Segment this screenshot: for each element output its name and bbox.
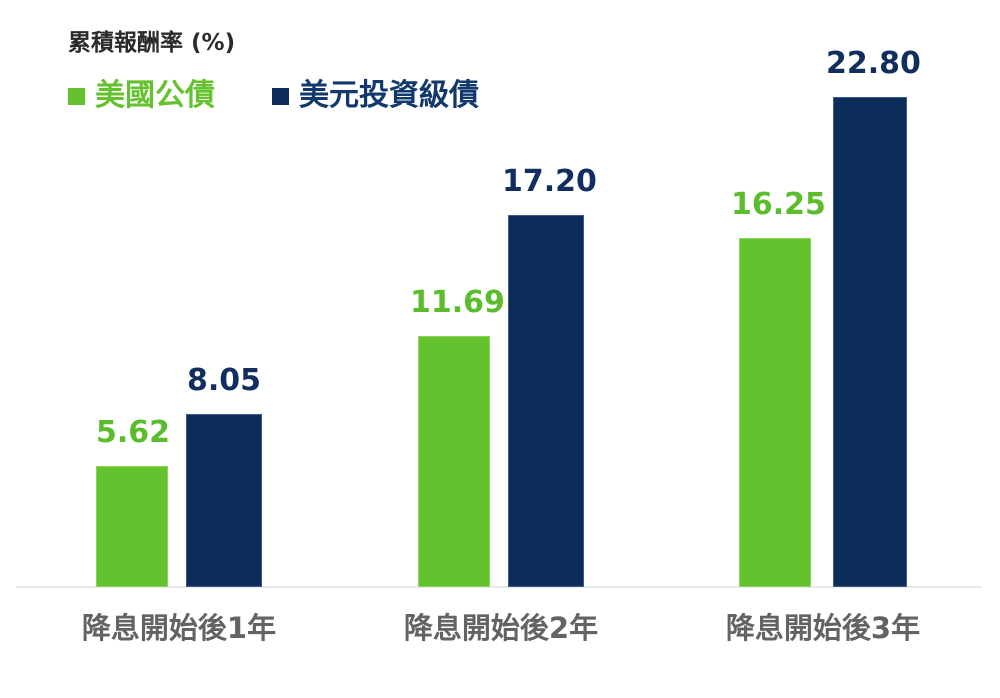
- bar-us-treasury-year3[interactable]: [739, 238, 811, 587]
- bar-chart: 累積報酬率 (%) 美國公債 美元投資級債 5.62 8.05 11.69 17…: [0, 0, 1000, 698]
- bar-label-usd-ig-year3: 22.80: [826, 49, 914, 79]
- bar-label-usd-ig-year1: 8.05: [186, 366, 262, 396]
- plot-area: 5.62 8.05 11.69 17.20 16.25 22.80 降息開始後1…: [0, 0, 1000, 698]
- bar-us-treasury-year1[interactable]: [96, 466, 168, 587]
- bar-label-usd-ig-year2: 17.20: [502, 167, 590, 197]
- bar-label-us-treasury-year2: 11.69: [410, 288, 498, 318]
- bar-usd-ig-year3[interactable]: [833, 97, 907, 587]
- bar-label-us-treasury-year3: 16.25: [731, 190, 819, 220]
- category-label-year1: 降息開始後1年: [29, 614, 329, 643]
- bar-usd-ig-year2[interactable]: [508, 215, 584, 587]
- bar-label-us-treasury-year1: 5.62: [96, 418, 168, 448]
- bar-us-treasury-year2[interactable]: [418, 336, 490, 587]
- category-label-year2: 降息開始後2年: [351, 614, 651, 643]
- bar-usd-ig-year1[interactable]: [186, 414, 262, 587]
- category-label-year3: 降息開始後3年: [673, 614, 973, 643]
